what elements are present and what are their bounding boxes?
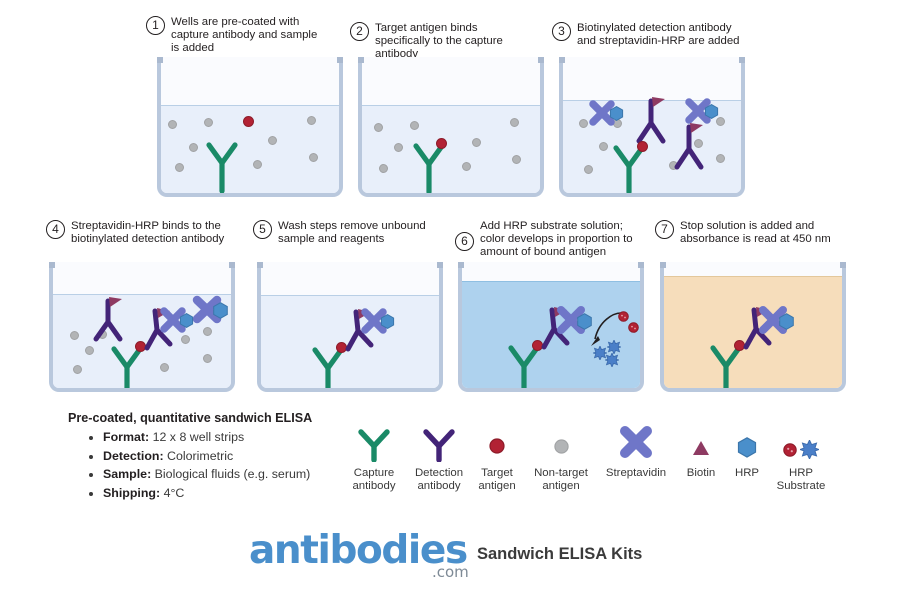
legend-label: HRP Substrate [768, 467, 834, 493]
well-step-1 [157, 57, 343, 197]
target-antigen-icon [243, 116, 254, 127]
well-rim-left [358, 57, 364, 63]
well-contents [462, 262, 640, 388]
legend-label: Biotin [679, 467, 723, 480]
step-number-6: 6 [455, 232, 474, 251]
step-number-1: 1 [146, 16, 165, 35]
hrp-icon [380, 314, 395, 334]
well-rim-right [739, 57, 745, 63]
info-value: Colorimetric [167, 449, 233, 463]
list-item: Detection: Colorimetric [103, 447, 310, 466]
non-target-antigen-icon [268, 136, 277, 145]
info-label: Shipping: [103, 486, 160, 500]
well-step-4 [49, 262, 235, 392]
well-contents [261, 262, 439, 388]
non-target-antigen-icon [512, 155, 521, 164]
well-rim-right [437, 262, 443, 268]
well-step-6 [458, 262, 644, 392]
well-contents [53, 262, 231, 388]
legend-hrp-substrate: HRP Substrate [768, 428, 834, 493]
non-target-antigen-icon [374, 123, 383, 132]
well-body [458, 262, 644, 392]
well-rim-right [638, 262, 644, 268]
well-contents [161, 57, 339, 193]
well-rim-left [157, 57, 163, 63]
legend-detection-antibody: Detection antibody [405, 428, 473, 492]
non-target-antigen-icon [510, 118, 519, 127]
legend-label: Detection antibody [405, 467, 473, 492]
non-target-antigen-icon [599, 142, 608, 151]
non-target-antigen-icon [462, 162, 471, 171]
step-caption-3: 3 Biotinylated detection antibody and st… [552, 22, 742, 48]
non-target-antigen-icon [394, 143, 403, 152]
capture-antibody-icon [340, 428, 408, 462]
legend-biotin: Biotin [679, 428, 723, 480]
list-item: Shipping: 4°C [103, 484, 310, 503]
legend-non-target-antigen: Non-target antigen [527, 428, 595, 492]
step-caption-6: 6 Add HRP substrate solution; color deve… [455, 220, 635, 260]
hrp-substrate-product-icon [605, 353, 619, 372]
hrp-icon [725, 428, 769, 462]
info-label: Format: [103, 430, 149, 444]
well-rim-left [559, 57, 565, 63]
detection-antibody-icon [405, 428, 473, 462]
brand-domain-suffix: .com [432, 563, 469, 581]
info-label: Sample: [103, 467, 151, 481]
step-number-2: 2 [350, 22, 369, 41]
step-text-1: Wells are pre-coated with capture antibo… [171, 16, 326, 56]
info-value: 4°C [164, 486, 185, 500]
step-number-4: 4 [46, 220, 65, 239]
well-rim-right [538, 57, 544, 63]
step-text-4: Streptavidin-HRP binds to the biotinylat… [71, 220, 226, 246]
non-target-antigen-icon [253, 160, 262, 169]
non-target-antigen-icon [584, 165, 593, 174]
biotin-icon [679, 428, 723, 462]
hrp-icon [179, 313, 194, 333]
non-target-antigen-icon [379, 164, 388, 173]
well-body [358, 57, 544, 197]
legend-label: HRP [725, 467, 769, 480]
step-number-7: 7 [655, 220, 674, 239]
step-text-3: Biotinylated detection antibody and stre… [577, 22, 742, 48]
well-contents [362, 57, 540, 193]
step-number-5: 5 [253, 220, 272, 239]
hrp-icon [778, 313, 795, 335]
well-contents [664, 262, 842, 388]
well-body [559, 57, 745, 197]
well-step-5 [257, 262, 443, 392]
non-target-antigen-icon [472, 138, 481, 147]
list-item: Sample: Biological fluids (e.g. serum) [103, 465, 310, 484]
non-target-antigen-icon [204, 118, 213, 127]
list-item: Format: 12 x 8 well strips [103, 428, 310, 447]
capture-antibody-icon [203, 139, 241, 197]
target-antigen-icon [470, 428, 524, 462]
hrp-icon [609, 106, 624, 126]
legend-target-antigen: Target antigen [470, 428, 524, 492]
non-target-antigen-icon [175, 163, 184, 172]
brand-tagline: Sandwich ELISA Kits [477, 545, 642, 564]
step-text-2: Target antigen binds specifically to the… [375, 22, 530, 62]
detection-antibody-icon [88, 295, 128, 350]
target-antigen-icon [637, 141, 648, 152]
legend-hrp: HRP [725, 428, 769, 480]
elisa-diagram: 1 Wells are pre-coated with capture anti… [0, 0, 900, 594]
non-target-antigen-icon [716, 154, 725, 163]
step-number-3: 3 [552, 22, 571, 41]
step-caption-4: 4 Streptavidin-HRP binds to the biotinyl… [46, 220, 226, 246]
step-text-6: Add HRP substrate solution; color develo… [480, 220, 635, 260]
non-target-antigen-icon [168, 120, 177, 129]
legend-capture-antibody: Capture antibody [340, 428, 408, 492]
info-label: Detection: [103, 449, 164, 463]
hrp-substrate-icon [768, 428, 834, 462]
well-step-7 [660, 262, 846, 392]
legend-label: Capture antibody [340, 467, 408, 492]
step-caption-5: 5 Wash steps remove unbound sample and r… [253, 220, 428, 246]
hrp-substrate-icon [628, 320, 639, 338]
legend-label: Non-target antigen [527, 467, 595, 492]
non-target-antigen-icon [527, 428, 595, 462]
non-target-antigen-icon [160, 363, 169, 372]
brand-footer: antibodies .com Sandwich ELISA Kits [249, 531, 669, 583]
non-target-antigen-icon [73, 365, 82, 374]
non-target-antigen-icon [309, 153, 318, 162]
non-target-antigen-icon [307, 116, 316, 125]
non-target-antigen-icon [203, 354, 212, 363]
step-text-5: Wash steps remove unbound sample and rea… [278, 220, 428, 246]
well-step-2 [358, 57, 544, 197]
legend-label: Target antigen [470, 467, 524, 492]
step-caption-1: 1 Wells are pre-coated with capture anti… [146, 16, 326, 56]
well-rim-left [49, 262, 55, 268]
well-body [257, 262, 443, 392]
well-rim-right [229, 262, 235, 268]
well-rim-left [458, 262, 464, 268]
non-target-antigen-icon [410, 121, 419, 130]
info-heading: Pre-coated, quantitative sandwich ELISA [68, 411, 312, 425]
well-rim-left [660, 262, 666, 268]
step-caption-2: 2 Target antigen binds specifically to t… [350, 22, 530, 62]
non-target-antigen-icon [70, 331, 79, 340]
well-body [157, 57, 343, 197]
legend-label: Streptavidin [598, 467, 674, 480]
info-value: Biological fluids (e.g. serum) [155, 467, 311, 481]
legend-streptavidin: Streptavidin [598, 428, 674, 480]
well-rim-right [337, 57, 343, 63]
step-caption-7: 7 Stop solution is added and absorbance … [655, 220, 840, 246]
step-text-7: Stop solution is added and absorbance is… [680, 220, 840, 246]
target-antigen-icon [436, 138, 447, 149]
well-rim-left [257, 262, 263, 268]
well-body [49, 262, 235, 392]
well-rim-right [840, 262, 846, 268]
detection-antibody-icon [669, 121, 709, 178]
hrp-icon [212, 302, 229, 324]
non-target-antigen-icon [189, 143, 198, 152]
info-list: Format: 12 x 8 well strips Detection: Co… [86, 428, 310, 502]
streptavidin-icon [598, 428, 674, 462]
well-step-3 [559, 57, 745, 197]
well-contents [563, 57, 741, 193]
well-body [660, 262, 846, 392]
info-value: 12 x 8 well strips [153, 430, 245, 444]
